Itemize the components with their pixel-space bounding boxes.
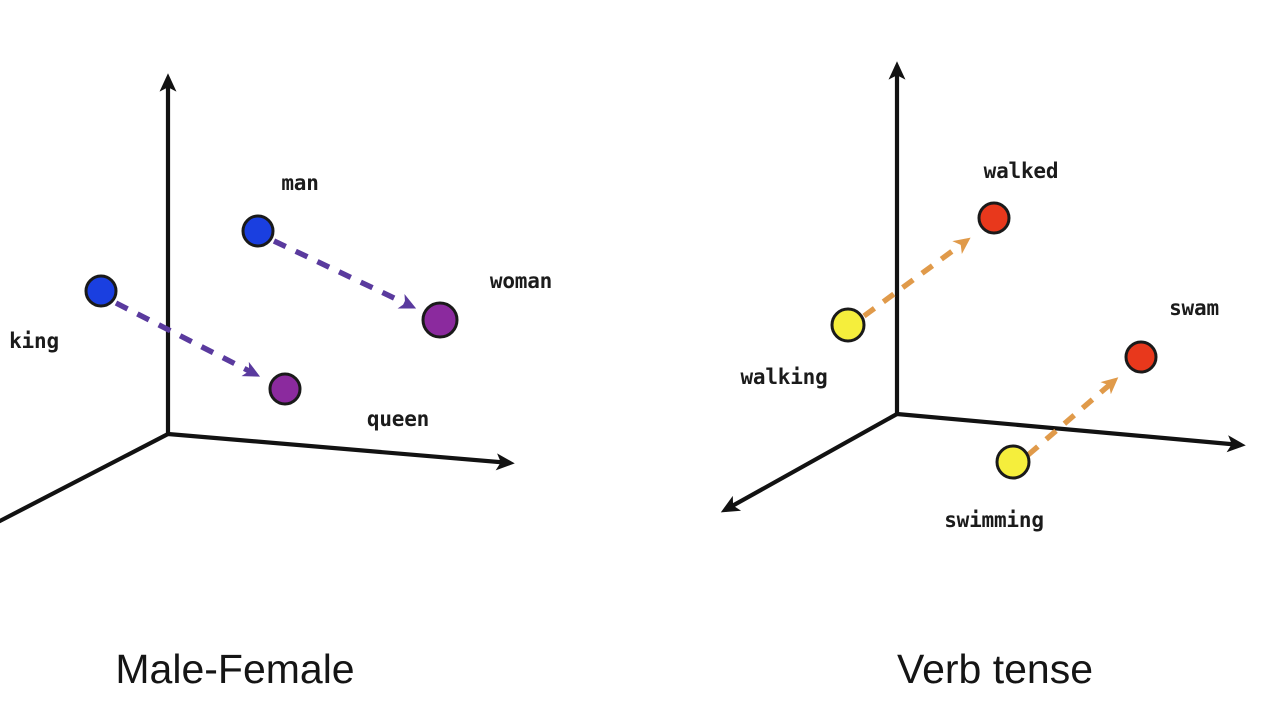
embedding-figure: king man queen woman [0, 0, 1279, 720]
label-walked: walked [984, 159, 1059, 183]
label-swam: swam [1169, 296, 1219, 320]
label-queen: queen [367, 407, 429, 431]
points-male-female [86, 216, 457, 404]
caption-male-female: Male-Female [0, 649, 470, 690]
panel-verb-tense: walking walked swimming swam [725, 66, 1241, 532]
panel-male-female: king man queen woman [0, 78, 552, 523]
vectors-male-female [116, 241, 411, 374]
label-man: man [281, 171, 318, 195]
point-walking[interactable] [832, 309, 864, 341]
axes-verb-tense [725, 66, 1241, 510]
axes-male-female [0, 78, 510, 523]
point-walked[interactable] [979, 203, 1009, 233]
point-man[interactable] [243, 216, 273, 246]
point-queen[interactable] [270, 374, 300, 404]
label-walking: walking [740, 365, 827, 389]
label-woman: woman [490, 269, 552, 293]
vector-swimming-to-swam [1028, 381, 1114, 455]
z-axis [725, 414, 897, 510]
point-swam[interactable] [1126, 342, 1156, 372]
x-axis [168, 434, 510, 463]
vector-walking-to-walked [864, 241, 966, 316]
vector-man-to-woman [274, 241, 411, 306]
caption-verb-tense: Verb tense [795, 649, 1195, 690]
label-king: king [9, 329, 59, 353]
vector-king-to-queen [116, 303, 255, 374]
z-axis [0, 434, 168, 523]
label-swimming: swimming [944, 508, 1044, 532]
embedding-diagram-canvas: king man queen woman [0, 0, 1279, 720]
point-woman[interactable] [423, 303, 457, 337]
point-king[interactable] [86, 276, 116, 306]
point-swimming[interactable] [997, 446, 1029, 478]
points-verb-tense [832, 203, 1156, 478]
